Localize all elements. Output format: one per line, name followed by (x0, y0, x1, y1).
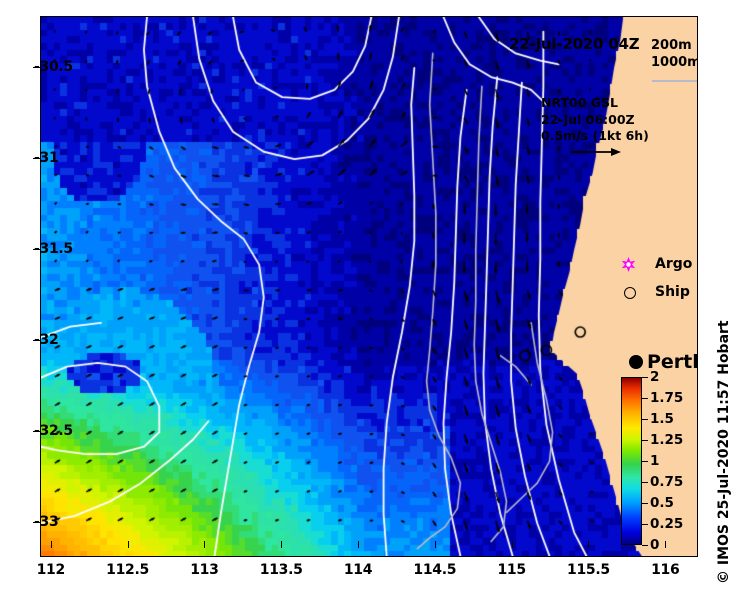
argo-icon (621, 257, 636, 272)
colorbar-tick-label: 1 (650, 453, 659, 469)
x-tick-label: 116 (651, 562, 679, 578)
colorbar-tick (642, 503, 648, 504)
colorbar-tick (642, 461, 648, 462)
colorbar-tick-label: 1.5 (650, 411, 674, 427)
colorbar-tick (642, 524, 648, 525)
colorbar-gradient (621, 377, 642, 545)
legend-label-argo: Argo (655, 256, 692, 272)
colorbar-tick (642, 482, 648, 483)
x-tick-label: 115.5 (567, 562, 610, 578)
x-tick (51, 541, 52, 548)
colorbar-tick (642, 440, 648, 441)
colorbar-tick-label: 0.25 (650, 516, 683, 532)
x-tick (204, 541, 205, 548)
x-tick-label: 114 (344, 562, 372, 578)
colorbar-tick-label: 0.5 (650, 495, 674, 511)
depth-legend: 200m 1000m (651, 37, 698, 71)
x-tick-label: 113.5 (260, 562, 303, 578)
x-tick-label: 114.5 (413, 562, 456, 578)
colorbar-tick-label: 0.75 (650, 474, 683, 490)
colorbar-tick (642, 419, 648, 420)
colorbar-tick-label: 2 (650, 369, 659, 385)
colorbar-tick (642, 545, 648, 546)
x-tick (435, 541, 436, 548)
ship-icon (624, 287, 636, 299)
legend-label-ship: Ship (655, 284, 690, 300)
depth-1000m-line-swatch (652, 80, 698, 82)
x-tick (358, 541, 359, 548)
y-tick-label: -30.5 (34, 59, 73, 75)
depth-1000m-label: 1000m (651, 55, 698, 70)
x-tick (512, 541, 513, 548)
colorbar-tick-label: 1.75 (650, 390, 683, 406)
x-tick (588, 541, 589, 548)
x-tick (128, 541, 129, 548)
current-time-label: 22-Jul 06:00Z (541, 112, 635, 127)
depth-200m-label: 200m (651, 38, 692, 53)
x-tick (665, 541, 666, 548)
current-legend: NRT00 GSL 22-Jul 06:00Z 0.5m/s (1kt 6h) (541, 95, 649, 145)
colorbar-tick-label: 0 (650, 537, 659, 553)
x-tick-label: 112 (37, 562, 65, 578)
y-tick-label: -31.5 (34, 241, 73, 257)
current-scale-label: 0.5m/s (1kt 6h) (541, 128, 649, 143)
datestamp-label: 22-Jul-2020 04Z (509, 35, 639, 53)
x-tick (281, 541, 282, 548)
y-tick-label: -32.5 (34, 423, 73, 439)
colorbar-tick (642, 377, 648, 378)
y-tick-label: -33 (34, 514, 58, 530)
city-dot-icon (629, 355, 643, 369)
y-tick-label: -32 (34, 332, 58, 348)
x-tick-label: 113 (190, 562, 218, 578)
y-tick-label: -31 (34, 150, 58, 166)
colorbar-tick-label: 1.25 (650, 432, 683, 448)
current-source-label: NRT00 GSL (541, 95, 618, 110)
x-tick-label: 115 (497, 562, 525, 578)
right-arrow-icon (569, 145, 623, 159)
copyright-label: © IMOS 25-Jul-2020 11:57 Hobart (716, 320, 732, 584)
x-tick-label: 112.5 (106, 562, 149, 578)
colorbar-tick (642, 398, 648, 399)
map-plot-area: 22-Jul-2020 04Z 200m 1000m NRT00 GSL 22-… (40, 16, 698, 557)
